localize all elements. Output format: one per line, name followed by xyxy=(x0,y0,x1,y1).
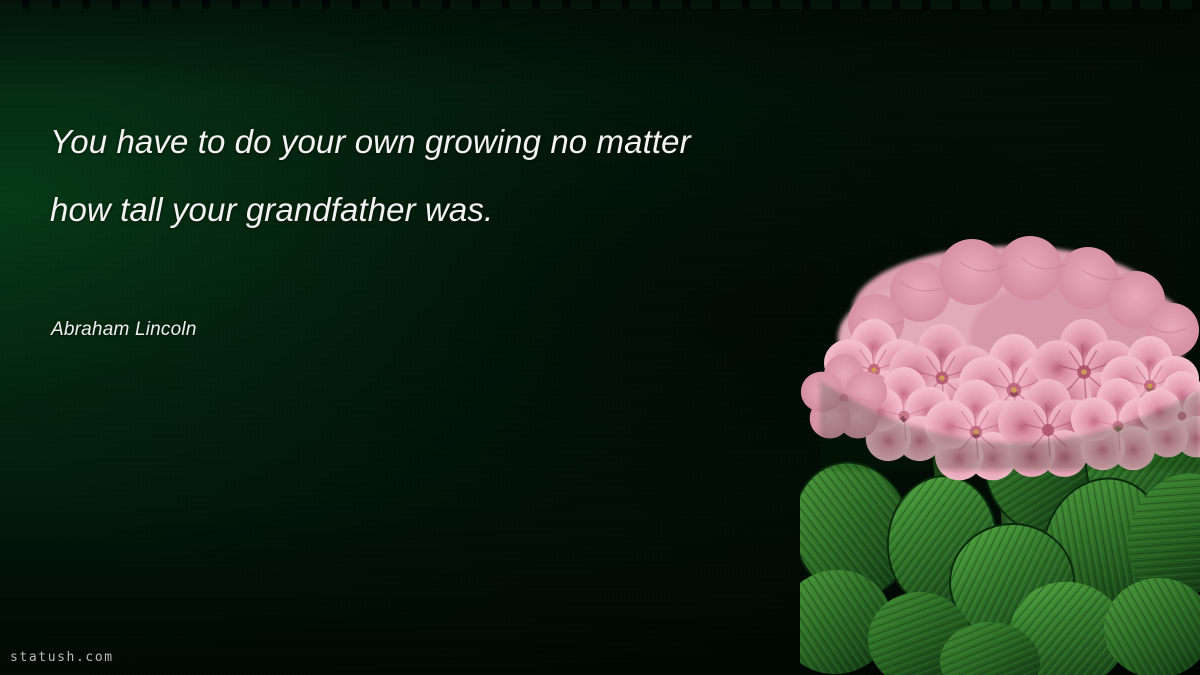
quote-text: You have to do your own growing no matte… xyxy=(50,108,850,244)
quote-card: You have to do your own growing no matte… xyxy=(0,0,1200,675)
quote-author: Abraham Lincoln xyxy=(51,319,197,341)
site-watermark: statush.com xyxy=(10,650,114,665)
top-edge-band xyxy=(0,0,1200,9)
